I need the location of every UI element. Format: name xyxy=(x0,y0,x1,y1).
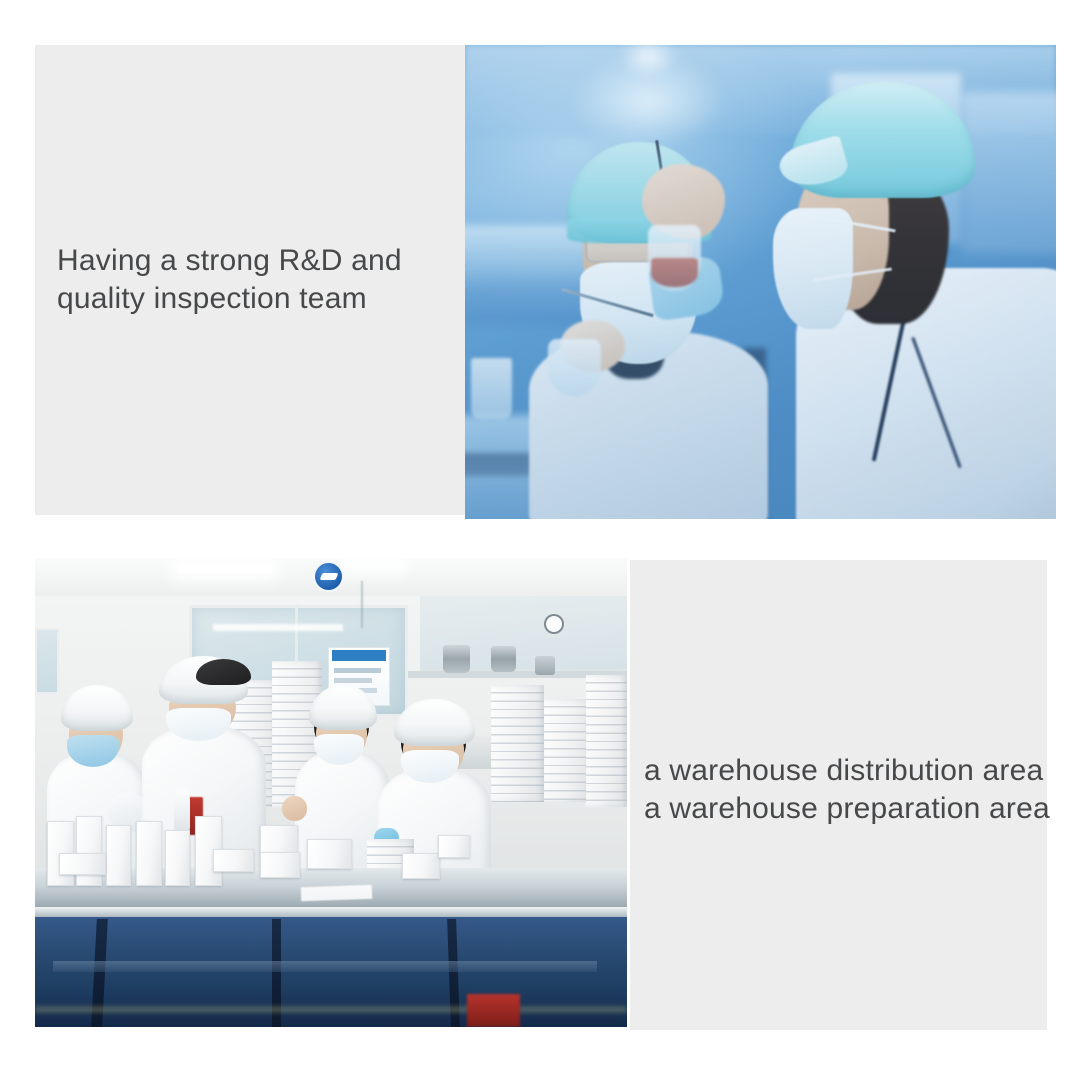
poster-line xyxy=(334,668,381,673)
steel-container-3 xyxy=(535,656,555,675)
white-bottle xyxy=(174,788,189,830)
product-box xyxy=(76,816,102,886)
paper-sheet xyxy=(301,885,372,902)
blue-circular-sign xyxy=(313,561,344,592)
product-box xyxy=(260,852,300,878)
hairnet-cap xyxy=(394,699,475,746)
warehouse-packaging-photo xyxy=(35,558,627,1027)
red-item-floor xyxy=(467,994,520,1027)
window-light-strip xyxy=(213,624,343,632)
product-box xyxy=(260,825,298,853)
product-box xyxy=(307,839,351,869)
promo-collage-page: Having a strong R&D and quality inspecti… xyxy=(0,0,1080,1080)
product-box xyxy=(402,853,440,878)
box-stack xyxy=(491,685,544,802)
ceiling-light xyxy=(177,565,272,573)
product-box xyxy=(438,835,470,858)
poster-header-bar xyxy=(332,650,386,661)
poster-line xyxy=(334,678,372,683)
lab-quality-inspection-photo xyxy=(465,45,1056,519)
lab-color-cast xyxy=(465,45,1056,519)
table-lower-shelf xyxy=(53,961,598,971)
steel-container-2 xyxy=(491,646,516,672)
product-box xyxy=(213,849,254,872)
product-box xyxy=(59,853,106,875)
warehouse-caption-text: a warehouse distribution area a warehous… xyxy=(644,752,1044,828)
rnd-caption-text: Having a strong R&D and quality inspecti… xyxy=(57,242,457,318)
hairnet-cap xyxy=(61,685,133,731)
dark-cap xyxy=(196,659,251,685)
box-stack xyxy=(586,675,627,806)
hairnet-cap xyxy=(309,685,377,730)
box-stack xyxy=(544,699,591,802)
product-box xyxy=(136,821,162,887)
ceiling-light-2 xyxy=(343,562,402,568)
floor-marking-line xyxy=(35,1006,627,1014)
hanging-cable xyxy=(361,581,363,628)
steel-container xyxy=(443,645,469,673)
product-box xyxy=(106,825,131,886)
worker-hand xyxy=(282,796,307,821)
product-box xyxy=(165,830,190,886)
